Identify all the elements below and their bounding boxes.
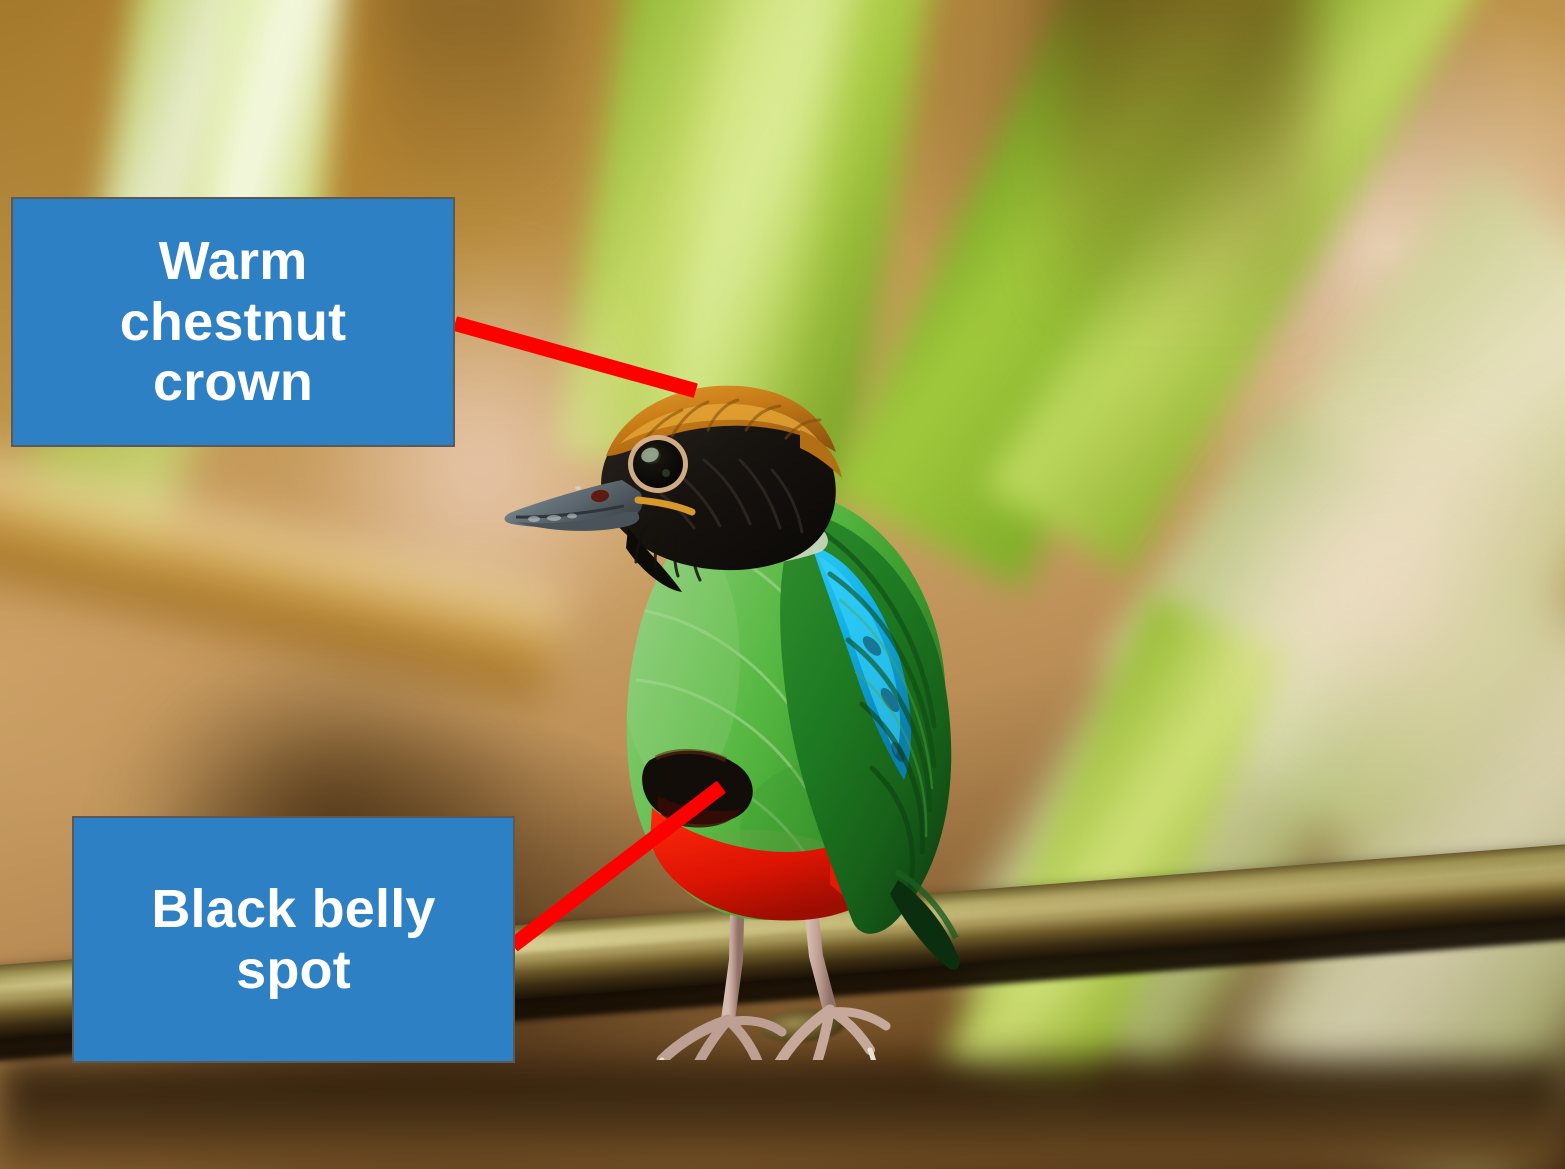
annotated-bird-photo: Warm chestnut crown Black belly spot xyxy=(0,0,1565,1169)
background-bottom-shadow xyxy=(0,1062,1565,1169)
background-shadow-top-2 xyxy=(380,0,560,220)
callout-crown-line3: crown xyxy=(106,352,361,412)
callout-belly-line2: spot xyxy=(137,940,449,1000)
callout-crown-line1: Warm xyxy=(106,231,361,291)
hooded-pitta-bird xyxy=(500,360,1060,1060)
callout-crown-line2: chestnut xyxy=(106,292,361,352)
callout-belly-line1: Black belly xyxy=(137,879,449,939)
background-warm-patch-2 xyxy=(1180,380,1565,800)
callout-box-warm-chestnut-crown[interactable]: Warm chestnut crown xyxy=(11,197,455,447)
background-shadow-top xyxy=(1050,0,1310,340)
callout-box-black-belly-spot[interactable]: Black belly spot xyxy=(72,816,515,1063)
bird-eye xyxy=(628,435,688,493)
